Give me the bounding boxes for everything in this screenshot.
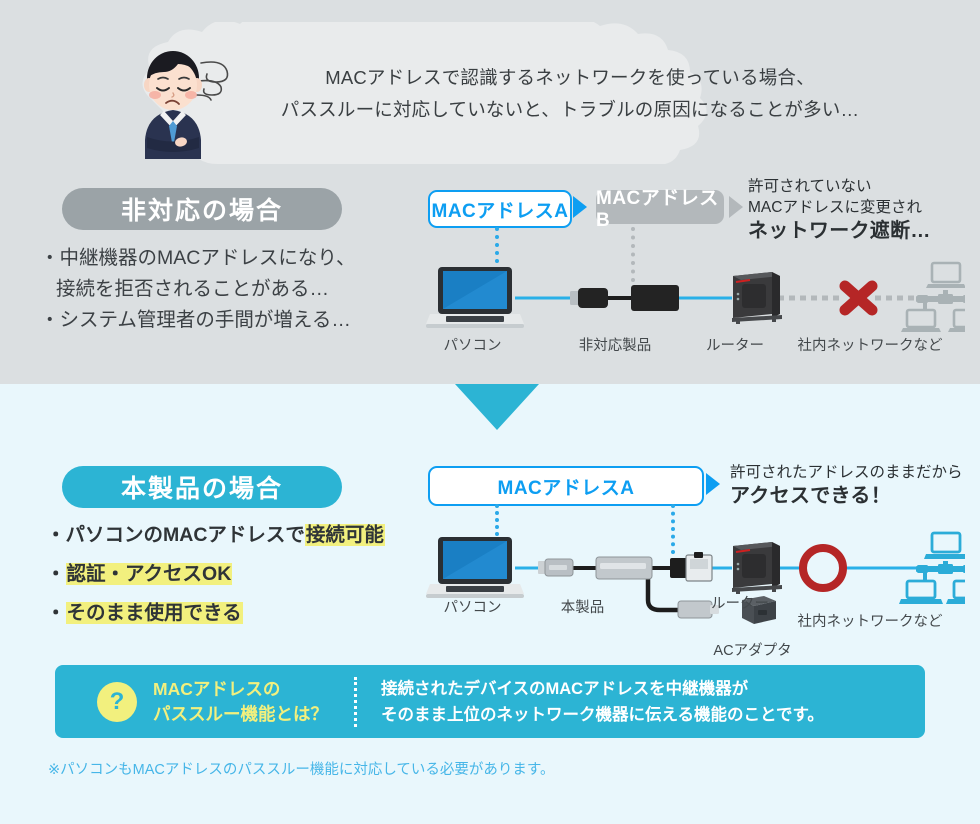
badge-mac-address-b-top: MACアドレスB (596, 190, 724, 224)
top-network-diagram (420, 258, 965, 341)
top-section-annotation: 許可されていない MACアドレスに変更され ネットワーク遮断… (748, 176, 931, 244)
annotation-line-1: 許可されていない (748, 176, 931, 197)
info-desc-line-2: そのまま上位のネットワーク機器に伝える機能のことです。 (381, 702, 824, 728)
vertical-dotted-divider (354, 677, 359, 727)
bottom-section-annotation: 許可されたアドレスのままだから アクセスできる！ (730, 462, 963, 509)
product-usb-connector-icon (538, 559, 573, 576)
bullet-highlight: 接続可能 (305, 524, 385, 546)
device-label-router: ルーター (700, 592, 780, 613)
arrow-right-icon-gray (729, 196, 743, 218)
arrow-right-icon-blue (706, 473, 720, 495)
footnote-text: ※パソコンもMACアドレスのパススルー機能に対応している必要があります。 (48, 758, 554, 779)
top-section-bullet-list: ・中継機器のMACアドレスになり、 接続を拒否されることがある… ・システム管理… (40, 243, 420, 336)
annotation-line-1: 許可されたアドレスのままだから (730, 462, 963, 483)
device-label-router: ルーター (690, 334, 780, 355)
laptop-icon (426, 537, 524, 598)
router-icon (732, 542, 782, 594)
router-icon (732, 272, 782, 324)
device-label-ac-adapter: ACアダプタ (705, 639, 800, 660)
info-title-line-2: パススルー機能とは？ (153, 702, 328, 727)
arrow-right-icon-blue (573, 196, 587, 218)
bullet-plain: ・パソコンのMACアドレスで (46, 524, 305, 546)
product-body-icon (596, 557, 652, 579)
device-label-pc: パソコン (425, 596, 520, 617)
bullet-item: ・パソコンのMACアドレスで接続可能 (46, 520, 446, 551)
infographic-root: MACアドレスで認識するネットワークを使っている場合、 パススルーに対応していな… (0, 0, 980, 824)
worried-person-illustration (133, 41, 249, 159)
annotation-line-2: MACアドレスに変更され (748, 197, 931, 218)
speech-bubble-text: MACアドレスで認識するネットワークを使っている場合、 パススルーに対応していな… (270, 62, 870, 126)
device-label-network: 社内ネットワークなど (790, 334, 950, 355)
bullet-plain: ・ (46, 602, 66, 624)
bottom-section-bullet-list: ・パソコンのMACアドレスで接続可能 ・認証・アクセスOK ・そのまま使用できる (46, 520, 446, 637)
info-desc-line-1: 接続されたデバイスのMACアドレスを中継機器が (381, 676, 824, 702)
rj45-connector-icon (670, 552, 712, 581)
top-section-pill-label: 非対応の場合 (62, 188, 342, 230)
info-panel-description: 接続されたデバイスのMACアドレスを中継機器が そのまま上位のネットワーク機器に… (381, 676, 824, 728)
annotation-emphasis: アクセスできる！ (730, 483, 963, 509)
allowed-circle-icon (803, 548, 843, 588)
speech-line-1: MACアドレスで認識するネットワークを使っている場合、 (270, 62, 870, 94)
bullet-item: ・認証・アクセスOK (46, 559, 446, 590)
device-label-network: 社内ネットワークなど (790, 610, 950, 631)
bullet-item: ・システム管理者の手間が増える… (40, 305, 420, 336)
info-title-line-1: MACアドレスの (153, 677, 328, 702)
laptop-icon (426, 267, 524, 328)
speech-line-2: パススルーに対応していないと、トラブルの原因になることが多い… (270, 94, 870, 126)
info-panel-title: MACアドレスの パススルー機能とは？ (153, 677, 328, 727)
bullet-item: ・そのまま使用できる (46, 598, 446, 629)
bottom-section-pill-label: 本製品の場合 (62, 466, 342, 508)
section-transition-arrow (455, 384, 539, 430)
device-label-product: 非対応製品 (560, 334, 670, 355)
question-mark-icon: ? (97, 682, 137, 722)
annotation-emphasis: ネットワーク遮断… (748, 218, 931, 244)
badge-mac-address-a-top: MACアドレスA (428, 190, 572, 228)
bullet-item: 接続を拒否されることがある… (40, 274, 420, 305)
blocked-x-icon (845, 286, 872, 310)
device-label-pc: パソコン (425, 334, 520, 355)
bullet-highlight: そのまま使用できる (66, 602, 243, 624)
bullet-item: ・中継機器のMACアドレスになり、 (40, 243, 420, 274)
badge-mac-address-a-bottom: MACアドレスA (428, 466, 704, 506)
info-panel: ? MACアドレスの パススルー機能とは？ 接続されたデバイスのMACアドレスを… (55, 665, 925, 738)
bullet-highlight: 認証・アクセスOK (66, 563, 233, 585)
device-label-product: 本製品 (545, 596, 620, 617)
bullet-plain: ・ (46, 563, 66, 585)
